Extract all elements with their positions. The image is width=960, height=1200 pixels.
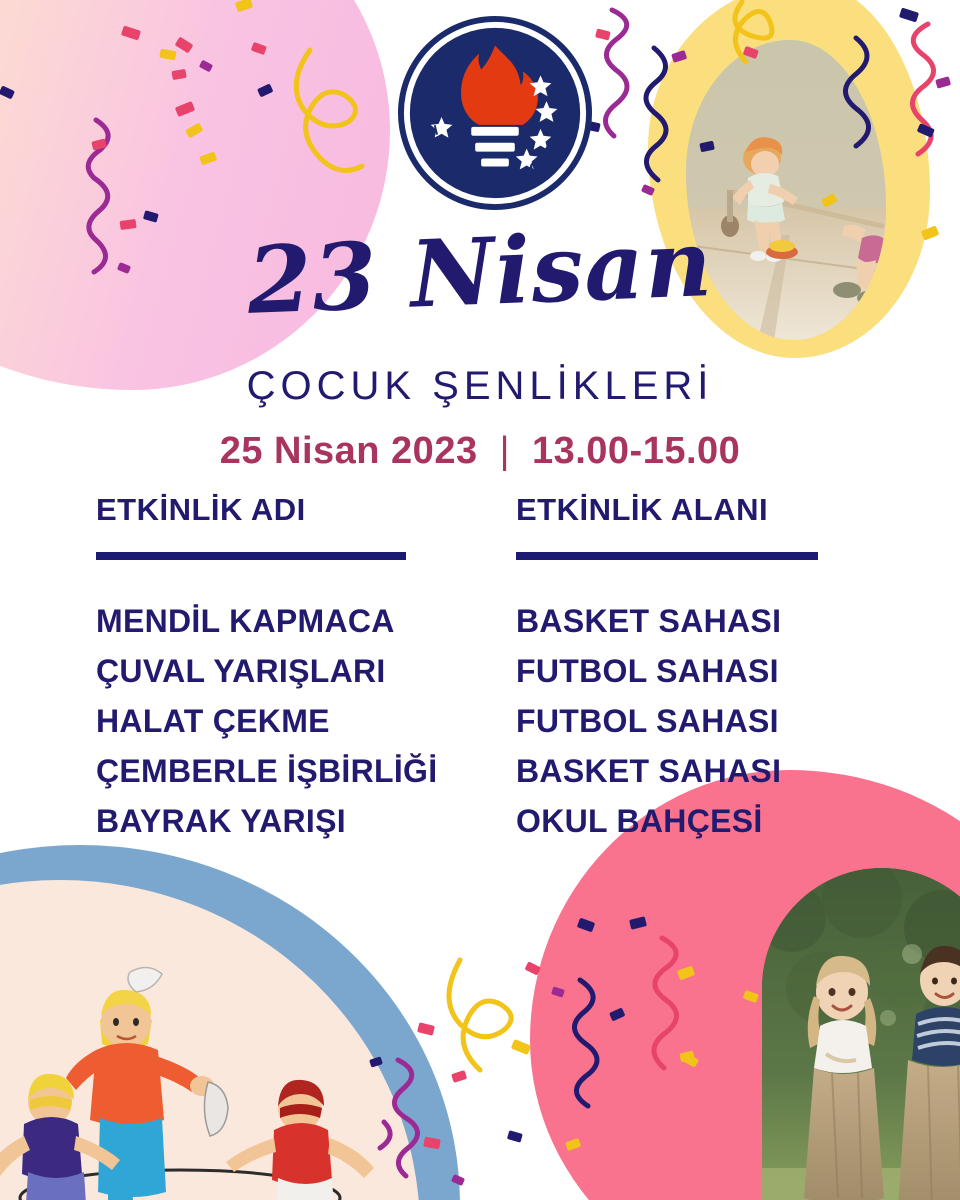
column-header-venue: ETKİNLİK ALANI bbox=[516, 492, 856, 528]
header-rule-venue bbox=[516, 552, 818, 560]
column-header-activity: ETKİNLİK ADI bbox=[96, 492, 516, 528]
table-row: ÇEMBERLE İŞBİRLİĞİ BASKET SAHASI bbox=[96, 752, 856, 791]
table-body: MENDİL KAPMACA BASKET SAHASI ÇUVAL YARIŞ… bbox=[96, 602, 856, 841]
cell-activity: ÇEMBERLE İŞBİRLİĞİ bbox=[96, 752, 516, 791]
table-row: MENDİL KAPMACA BASKET SAHASI bbox=[96, 602, 856, 641]
event-time: 13.00-15.00 bbox=[532, 430, 740, 472]
cell-venue: FUTBOL SAHASI bbox=[516, 652, 779, 691]
cell-activity: ÇUVAL YARIŞLARI bbox=[96, 652, 516, 691]
script-title: 23 Nisan bbox=[0, 208, 960, 337]
cell-venue: BASKET SAHASI bbox=[516, 752, 781, 791]
cell-venue: FUTBOL SAHASI bbox=[516, 702, 779, 741]
cell-activity: HALAT ÇEKME bbox=[96, 702, 516, 741]
cell-venue: BASKET SAHASI bbox=[516, 602, 781, 641]
header-rule-activity bbox=[96, 552, 406, 560]
schedule-table: ETKİNLİK ADI ETKİNLİK ALANI MENDİL KAPMA… bbox=[96, 492, 856, 852]
page-title: ÇOCUK ŞENLİKLERİ bbox=[0, 364, 960, 409]
cell-activity: MENDİL KAPMACA bbox=[96, 602, 516, 641]
date-time-line: 25 Nisan 2023|13.00-15.00 bbox=[0, 430, 960, 473]
table-header-row: ETKİNLİK ADI ETKİNLİK ALANI bbox=[96, 492, 856, 560]
poster-root: TED ALİAĞA KOLEJİ bbox=[0, 0, 960, 1200]
cell-activity: BAYRAK YARIŞI bbox=[96, 802, 516, 841]
cell-venue: OKUL BAHÇESİ bbox=[516, 802, 763, 841]
date-time-separator: | bbox=[478, 430, 532, 473]
table-row: BAYRAK YARIŞI OKUL BAHÇESİ bbox=[96, 802, 856, 841]
event-date: 25 Nisan 2023 bbox=[220, 430, 478, 472]
table-row: HALAT ÇEKME FUTBOL SAHASI bbox=[96, 702, 856, 741]
table-row: ÇUVAL YARIŞLARI FUTBOL SAHASI bbox=[96, 652, 856, 691]
